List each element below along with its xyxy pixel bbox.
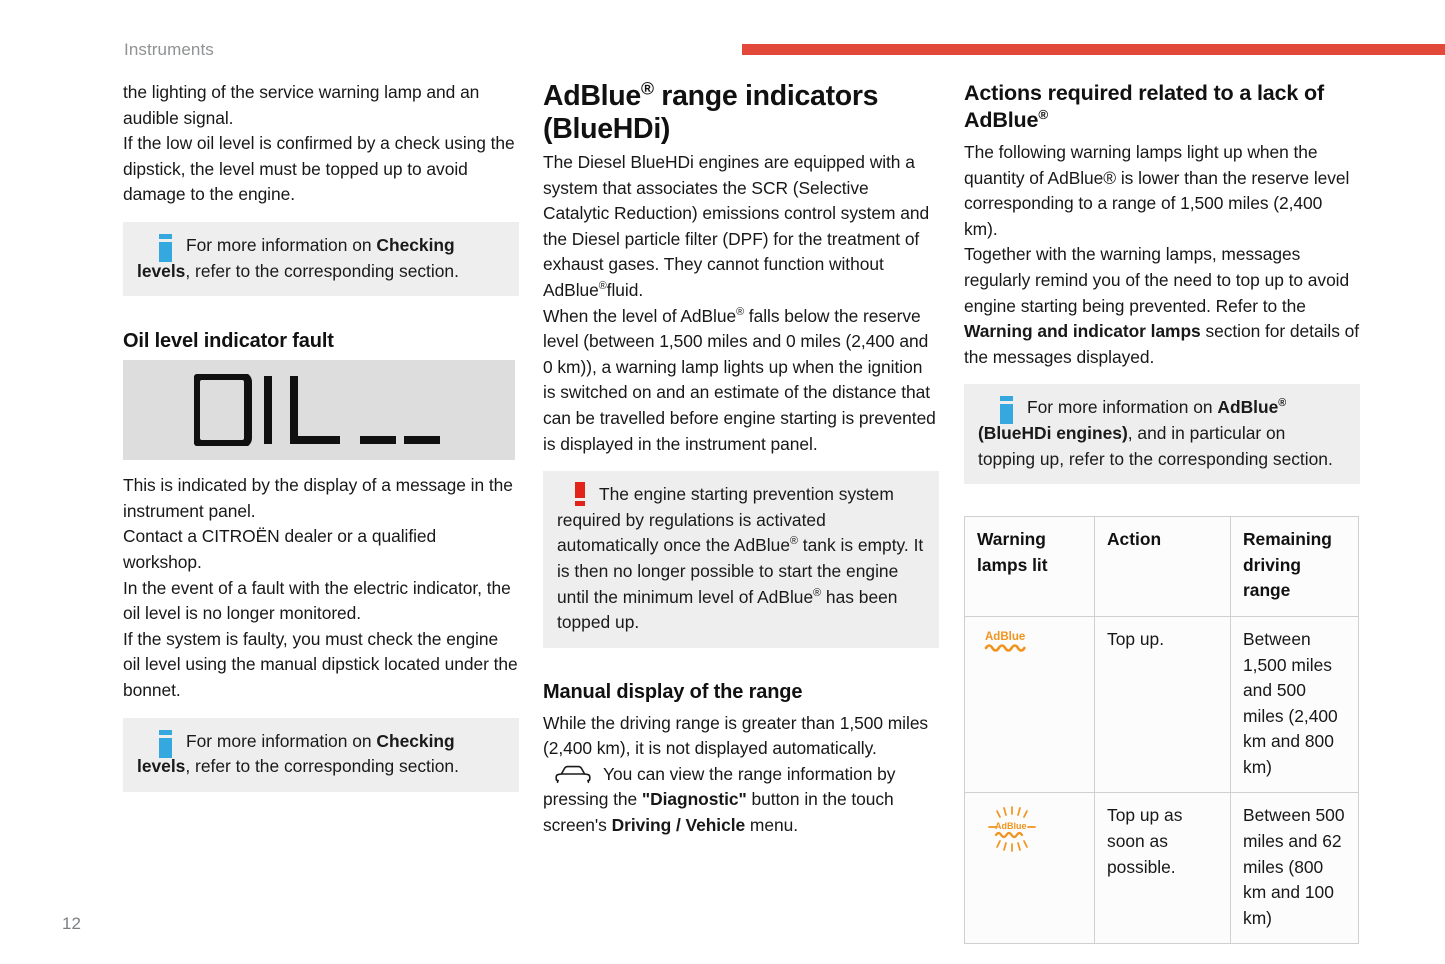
oil-lcd-glyphs: [194, 374, 444, 446]
adblue-lamp-cell-steady: AdBlue: [965, 616, 1095, 793]
note-text-after: , refer to the corresponding section.: [185, 756, 459, 776]
action-cell: Top up as soon as possible.: [1095, 793, 1231, 944]
info-icon: [159, 234, 172, 255]
heading-line-b: AdBlue: [964, 108, 1038, 132]
right-paragraph-1: The following warning lamps light up whe…: [964, 140, 1360, 242]
right-column: Actions required related to a lack of Ad…: [964, 80, 1360, 944]
note-checking-levels-bottom: For more information on Checking levels,…: [123, 718, 519, 792]
registered-mark: ®: [790, 536, 798, 548]
running-head: Instruments: [124, 40, 214, 60]
left-paragraph-6: If the system is faulty, you must check …: [123, 627, 519, 704]
car-note: You can view the range information by pr…: [543, 762, 939, 839]
car-note-bold-1: "Diagnostic": [642, 789, 747, 809]
middle-column: AdBlue® range indicators(BlueHDi) The Di…: [543, 80, 939, 839]
adblue-lamp-icon: AdBlue: [977, 627, 1084, 657]
right-paragraph-2-bold: Warning and indicator lamps: [964, 321, 1201, 341]
left-paragraph-1: the lighting of the service warning lamp…: [123, 80, 519, 131]
mid-paragraph-1: The Diesel BlueHDi engines are equipped …: [543, 150, 939, 304]
note-part-1: For more information on: [1027, 397, 1217, 417]
note-checking-levels-top: For more information on Checking levels,…: [123, 222, 519, 296]
registered-mark: ®: [1038, 107, 1048, 122]
page-number: 12: [62, 914, 81, 934]
actions-required-heading: Actions required related to a lack of Ad…: [964, 80, 1360, 134]
note-text-before: For more information on: [186, 235, 376, 255]
note-text: For more information on Checking levels,…: [137, 235, 459, 281]
oil-level-fault-display-figure: [123, 360, 515, 460]
info-icon: [1000, 396, 1013, 417]
svg-text:AdBlue: AdBlue: [995, 821, 1027, 831]
adblue-lamp-cell-flashing: AdBlue: [965, 793, 1095, 944]
mid-paragraph-3: While the driving range is greater than …: [543, 711, 939, 762]
page-header: Instruments: [0, 0, 1445, 80]
note-text-after: , refer to the corresponding section.: [185, 261, 459, 281]
table-header-row: Warning lamps lit Action Remaining drivi…: [965, 517, 1359, 617]
right-paragraph-2: Together with the warning lamps, message…: [964, 242, 1360, 370]
left-column: the lighting of the service warning lamp…: [123, 80, 519, 792]
note-text-before: For more information on: [186, 731, 376, 751]
left-paragraph-3: This is indicated by the display of a me…: [123, 473, 519, 524]
column-header-action: Action: [1095, 517, 1231, 617]
manual-display-of-range-heading: Manual display of the range: [543, 679, 939, 705]
left-paragraph-5: In the event of a fault with the electri…: [123, 576, 519, 627]
registered-mark: ®: [641, 79, 654, 99]
range-cell: Between 500 miles and 62 miles (800 km a…: [1231, 793, 1359, 944]
adblue-lamp-flashing-icon: AdBlue: [977, 803, 1084, 855]
range-cell: Between 1,500 miles and 500 miles (2,400…: [1231, 616, 1359, 793]
column-header-warning-lamps-lit: Warning lamps lit: [965, 517, 1095, 617]
car-icon: [555, 764, 591, 784]
title-line-2: (BlueHDi): [543, 113, 670, 145]
mid-paragraph-2-a: When the level of AdBlue: [543, 306, 736, 326]
mid-paragraph-1-b: fluid.: [607, 280, 643, 300]
adblue-range-indicators-title: AdBlue® range indicators(BlueHDi): [543, 80, 939, 146]
registered-mark: ®: [599, 280, 607, 292]
page-body: the lighting of the service warning lamp…: [0, 80, 1445, 890]
registered-mark: ®: [1278, 398, 1286, 410]
warning-note-engine-starting-prevention: The engine starting prevention system re…: [543, 471, 939, 648]
title-text: AdBlue: [543, 80, 641, 112]
left-paragraph-4: Contact a CITROËN dealer or a qualified …: [123, 524, 519, 575]
note-bold-2: (BlueHDi engines): [978, 423, 1128, 443]
title-text-rest: range indicators: [654, 80, 879, 112]
heading-line-a: Actions required related to a lack of: [964, 81, 1324, 105]
car-note-bold-2: Driving / Vehicle: [612, 815, 746, 835]
mid-paragraph-2-b: falls below the reserve level (between 1…: [543, 306, 936, 454]
warning-lamps-table: Warning lamps lit Action Remaining drivi…: [964, 516, 1359, 944]
exclamation-icon: [575, 482, 585, 504]
table-row: AdBlue Top up. Between 1,500 miles and 5…: [965, 616, 1359, 793]
action-cell: Top up.: [1095, 616, 1231, 793]
svg-text:AdBlue: AdBlue: [985, 631, 1025, 643]
left-paragraph-2: If the low oil level is confirmed by a c…: [123, 131, 519, 208]
oil-level-indicator-fault-heading: Oil level indicator fault: [123, 328, 519, 354]
info-icon: [159, 730, 172, 751]
column-header-remaining-driving-range: Remaining driving range: [1231, 517, 1359, 617]
mid-paragraph-2: When the level of AdBlue® falls below th…: [543, 304, 939, 458]
registered-mark: ®: [813, 587, 821, 599]
mid-paragraph-1-a: The Diesel BlueHDi engines are equipped …: [543, 152, 929, 300]
header-rule: [742, 44, 1445, 55]
note-bold-1: AdBlue: [1217, 397, 1278, 417]
note-adblue-bluehdi: For more information on AdBlue® (BlueHDi…: [964, 384, 1360, 484]
table-row: AdBlue Top up as soon as possible. Betwe…: [965, 793, 1359, 944]
car-note-part-3: menu.: [745, 815, 798, 835]
registered-mark: ®: [736, 306, 744, 318]
right-paragraph-2-a: Together with the warning lamps, message…: [964, 244, 1349, 315]
